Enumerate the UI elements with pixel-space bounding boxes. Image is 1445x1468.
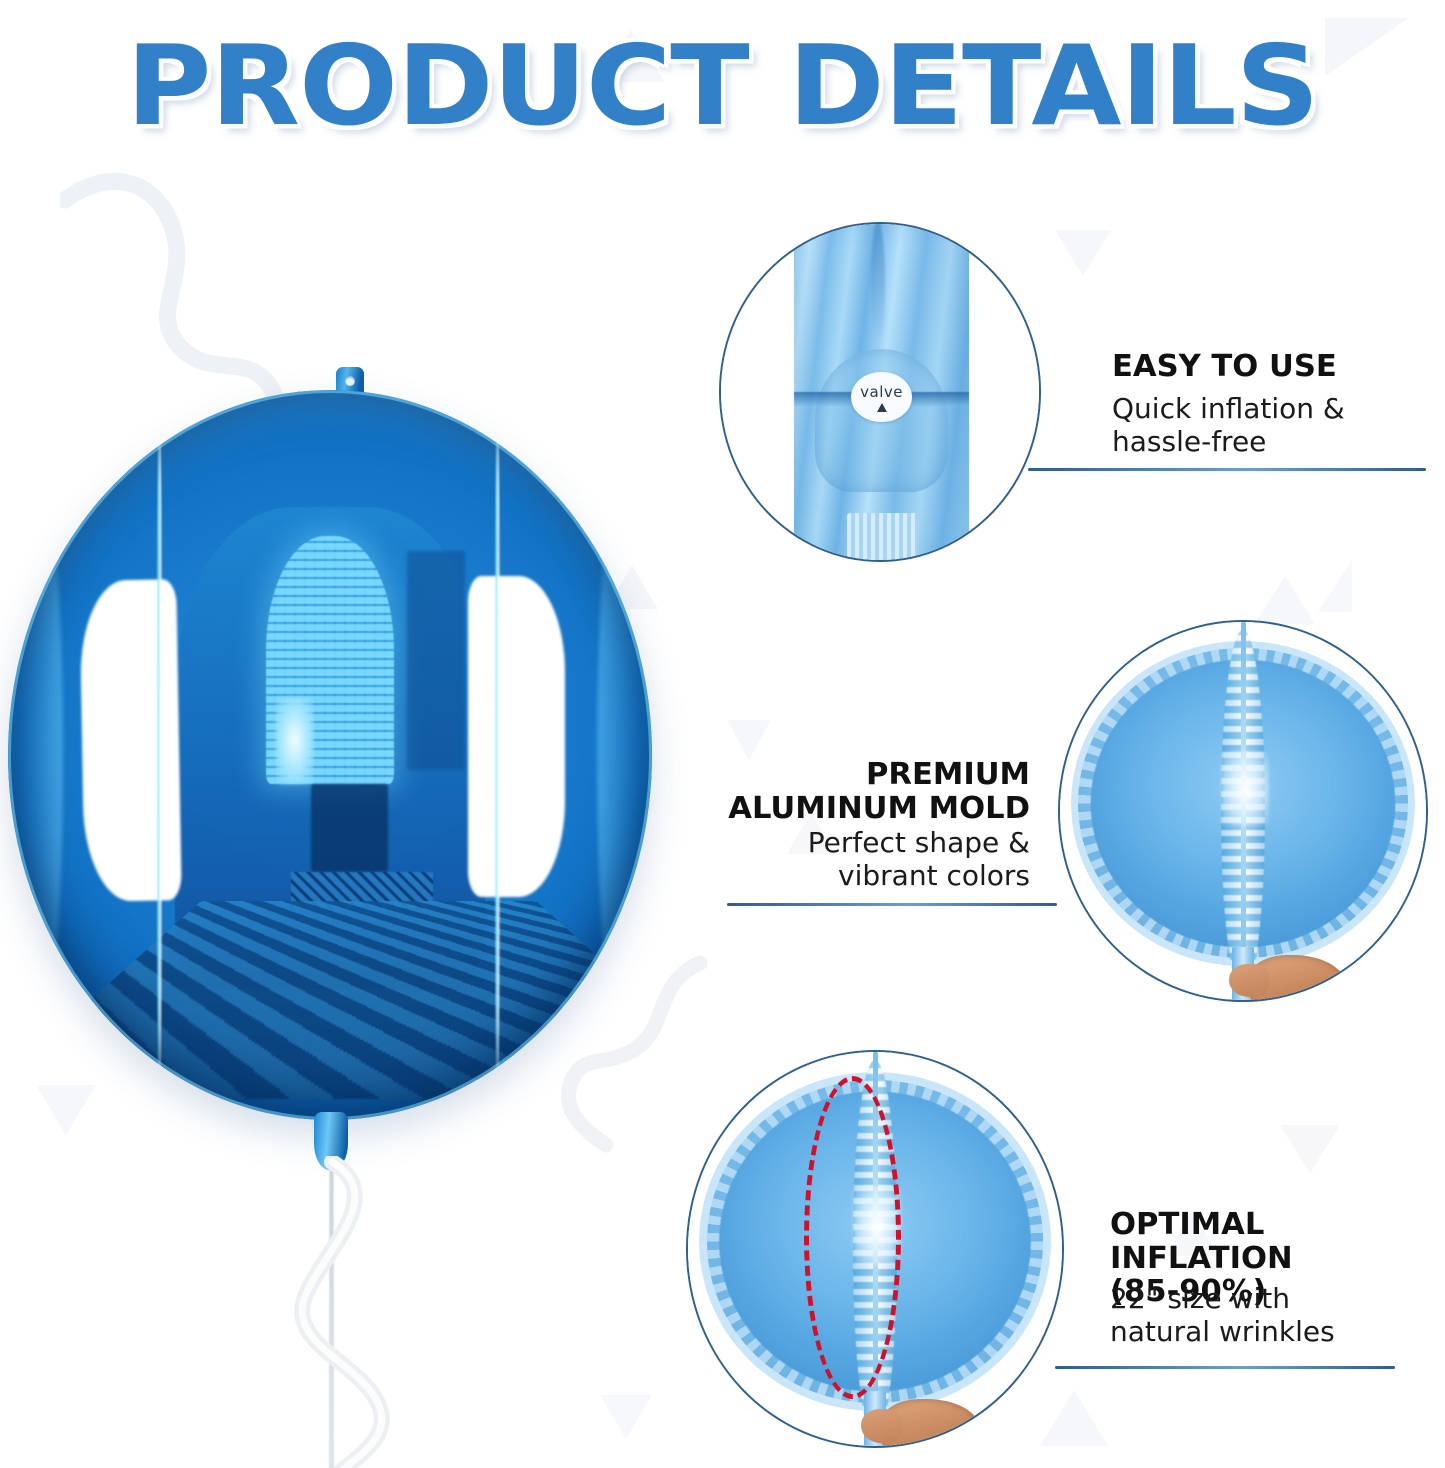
foil-balloon-gloss (1221, 751, 1269, 827)
decor-triangle (1255, 576, 1315, 624)
hero-balloon (0, 360, 660, 1468)
valve-photo: valve (721, 224, 1039, 560)
feature-body-optimal-inflation: 22" size with natural wrinkles (1110, 1282, 1440, 1348)
feature-body-premium-aluminum-mold: Perfect shape & vibrant colors (700, 826, 1030, 892)
curling-ribbon (268, 1156, 468, 1468)
page-title-wrapper: PRODUCT DETAILS (0, 34, 1445, 138)
decor-triangle (1055, 230, 1111, 276)
page-title: PRODUCT DETAILS (126, 31, 1318, 141)
orb-rim-shading (8, 390, 652, 1120)
feature-underline-premium-aluminum-mold (727, 903, 1057, 906)
valve-label-badge: valve (851, 372, 911, 422)
valve-label-text: valve (860, 383, 903, 401)
valve-crease (871, 222, 885, 349)
foil-balloon-photo (1060, 622, 1426, 1000)
hand-holding-balloon (1250, 955, 1345, 1002)
feature-heading-premium-aluminum-mold: PREMIUM ALUMINUM MOLD (693, 758, 1030, 825)
red-dashed-highlight-marker (804, 1076, 901, 1399)
decor-triangle (727, 720, 771, 760)
feature-underline-optimal-inflation (1055, 1366, 1395, 1369)
decor-triangle (1318, 560, 1352, 612)
valve-up-arrow-icon (877, 403, 887, 412)
balloon-orb-body (8, 390, 652, 1120)
foil-balloon-photo-wrinkles (688, 1052, 1062, 1446)
hand-holding-balloon (882, 1399, 979, 1448)
callout-circle-premium-aluminum-mold (1058, 620, 1428, 1002)
feature-heading-easy-to-use: EASY TO USE (1112, 350, 1438, 384)
feature-underline-easy-to-use (1028, 468, 1426, 471)
callout-circle-optimal-inflation (686, 1050, 1064, 1448)
callout-circle-easy-to-use: valve (719, 222, 1041, 562)
decor-triangle (1280, 1125, 1340, 1173)
infographic-canvas: PRODUCT DETAILS (0, 0, 1445, 1468)
feature-body-easy-to-use: Quick inflation & hassle-free (1112, 392, 1432, 458)
valve-neck (847, 513, 917, 562)
